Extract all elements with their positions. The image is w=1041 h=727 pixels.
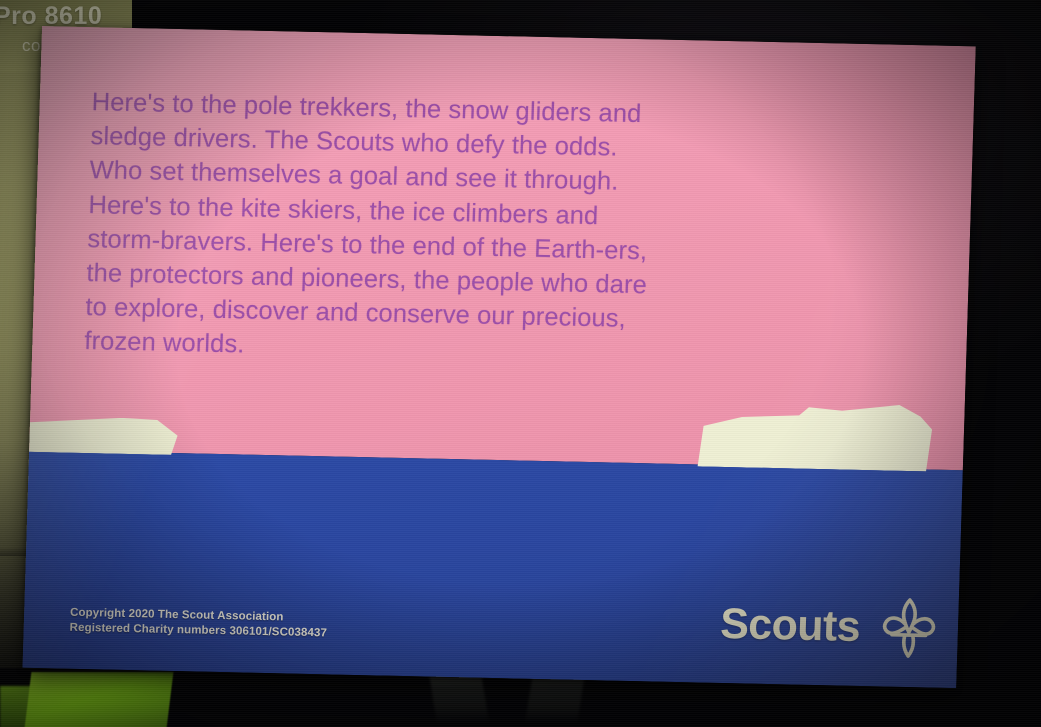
photo-scene: Pro 8610 co Here's to the pole trekkers,… bbox=[0, 0, 1041, 727]
legal-text-block: Copyright 2020 The Scout Association Reg… bbox=[69, 606, 327, 642]
scouts-card: Here's to the pole trekkers, the snow gl… bbox=[22, 26, 975, 688]
fleur-de-lis-icon bbox=[873, 592, 945, 663]
scouts-wordmark: Scouts bbox=[720, 602, 861, 648]
poem-text-block: Here's to the pole trekkers, the snow gl… bbox=[84, 85, 772, 373]
green-object-primary bbox=[25, 672, 174, 727]
iceberg-small-icon bbox=[29, 416, 178, 455]
scouts-brand-lockup: Scouts bbox=[719, 589, 945, 664]
printer-sub-label: co bbox=[22, 36, 41, 56]
